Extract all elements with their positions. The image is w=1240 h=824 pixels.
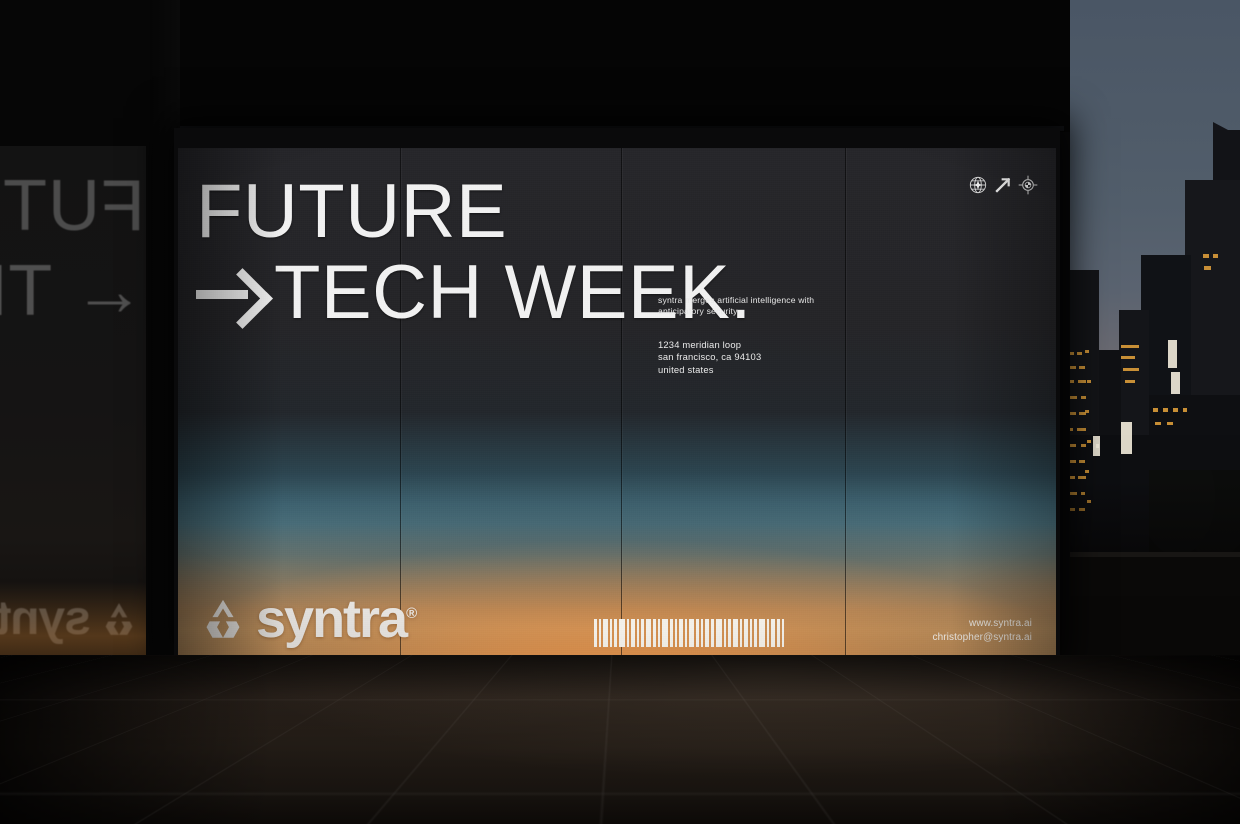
headline-line-1: FUTURE <box>196 176 752 249</box>
building-window <box>1167 422 1173 425</box>
headline-line-2: TECH WEEK. <box>196 257 752 330</box>
building-window <box>1121 356 1135 359</box>
building-window <box>1085 410 1089 413</box>
building-window-bright <box>1096 444 1099 448</box>
building-window <box>1077 428 1086 431</box>
billboard-poster: FUTURE TECH WEEK. syntra merges artifici… <box>178 148 1056 656</box>
building-window <box>1125 380 1135 383</box>
pavement <box>0 655 1240 824</box>
building-window <box>1079 366 1085 369</box>
globe-icon <box>968 175 988 195</box>
building-window <box>1079 460 1085 463</box>
crosshair-target-icon <box>1018 175 1038 195</box>
syntra-logo: syntra® <box>200 596 417 642</box>
syntra-triangle-mark-icon <box>200 596 246 642</box>
address-line-2: san francisco, ca 94103 <box>658 351 761 363</box>
building-window <box>1163 408 1168 412</box>
building-window <box>1087 440 1091 443</box>
balcony-railing <box>1062 596 1240 658</box>
wordmark-text: syntra <box>256 589 406 649</box>
reflection-headline-2: ← TECH <box>0 250 145 332</box>
building-window <box>1078 476 1086 479</box>
pavement-vignette <box>0 655 1240 824</box>
barcode <box>594 619 786 647</box>
building-window <box>1183 408 1187 412</box>
building-window <box>1087 380 1091 383</box>
building-window <box>1069 412 1076 415</box>
balcony-ledge-top <box>1062 552 1240 557</box>
arrow-up-right-icon <box>992 174 1014 196</box>
syntra-wordmark: syntra® <box>256 596 417 642</box>
left-panel-header <box>0 0 152 146</box>
building-window <box>1081 444 1086 447</box>
poster-body-copy: syntra merges artificial intelligence wi… <box>658 295 848 317</box>
building-window <box>1081 396 1086 399</box>
building-window <box>1203 254 1209 258</box>
building-window <box>1153 408 1158 412</box>
building-window-bright <box>1171 372 1180 394</box>
building-window <box>1155 422 1161 425</box>
address-line-1: 1234 meridian loop <box>658 339 761 351</box>
building-window-bright <box>1168 340 1177 368</box>
building-window-bright <box>1121 422 1132 454</box>
building-window <box>1085 350 1089 353</box>
reflection-headline-1: FUTURE <box>0 172 145 240</box>
contact-email: christopher@syntra.ai <box>932 631 1032 645</box>
building-window <box>1123 368 1139 371</box>
city-skyline <box>1063 0 1240 600</box>
street-scene: FUTURE ← TECH syntra <box>0 0 1240 824</box>
headline-line-2-text: TECH WEEK. <box>274 257 752 330</box>
building-window <box>1204 266 1211 270</box>
registered-mark: ® <box>406 605 417 622</box>
building-window <box>1085 470 1089 473</box>
building-window <box>1121 345 1139 348</box>
building-window <box>1213 254 1218 258</box>
building-window <box>1078 380 1086 383</box>
poster-contact: www.syntra.ai christopher@syntra.ai <box>932 617 1032 644</box>
contact-website: www.syntra.ai <box>932 617 1032 631</box>
address-line-3: united states <box>658 364 761 376</box>
poster-mark-row <box>968 174 1038 196</box>
panel-seam <box>845 148 846 656</box>
building-window <box>1077 352 1082 355</box>
arrow-right-icon <box>196 265 258 321</box>
building-window <box>1173 408 1178 412</box>
reflection-arrow-icon: ← <box>72 251 145 331</box>
poster-address: 1234 meridian loop san francisco, ca 941… <box>658 339 761 376</box>
